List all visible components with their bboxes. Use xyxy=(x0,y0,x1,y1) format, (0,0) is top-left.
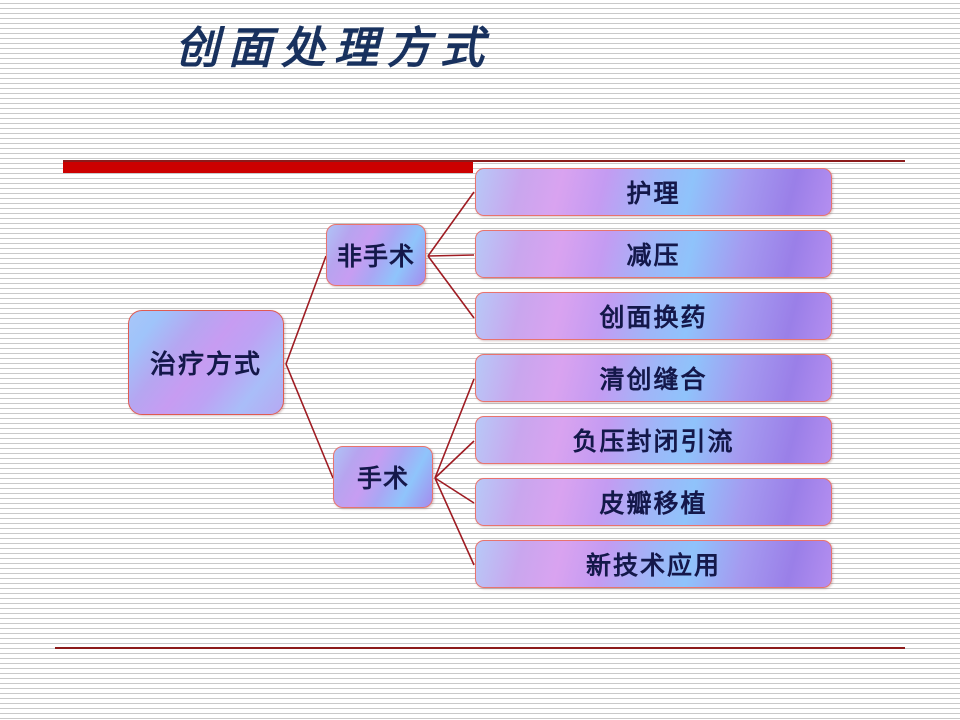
node-leaf-debridement-suture[interactable]: 清创缝合 xyxy=(475,354,832,402)
connector-root-to-surgical xyxy=(286,364,333,478)
node-leaf-wound-dressing-change[interactable]: 创面换药 xyxy=(475,292,832,340)
node-branch-nonsurgical[interactable]: 非手术 xyxy=(326,224,426,286)
node-branch-surgical[interactable]: 手术 xyxy=(333,446,433,508)
connector-root-to-nonsurgical xyxy=(286,256,326,364)
node-leaf-nursing[interactable]: 护理 xyxy=(475,168,832,216)
node-leaf-new-technology[interactable]: 新技术应用 xyxy=(475,540,832,588)
node-leaf-decompression[interactable]: 减压 xyxy=(475,230,832,278)
connector-nonsurgical-to-leaf-1 xyxy=(428,255,474,256)
connector-surgical-to-leaf-4 xyxy=(435,441,474,478)
slide-canvas: 创面处理方式 治疗方式 非手术 手术 护理 减压 创面换药 清创缝合 负压封闭引… xyxy=(0,0,960,720)
connector-surgical-to-leaf-3 xyxy=(435,379,474,478)
connector-nonsurgical-to-leaf-0 xyxy=(428,192,474,256)
node-leaf-negative-pressure-drainage[interactable]: 负压封闭引流 xyxy=(475,416,832,464)
node-root-treatment-method[interactable]: 治疗方式 xyxy=(128,310,284,415)
connector-nonsurgical-to-leaf-2 xyxy=(428,256,474,318)
node-leaf-flap-transplant[interactable]: 皮瓣移植 xyxy=(475,478,832,526)
